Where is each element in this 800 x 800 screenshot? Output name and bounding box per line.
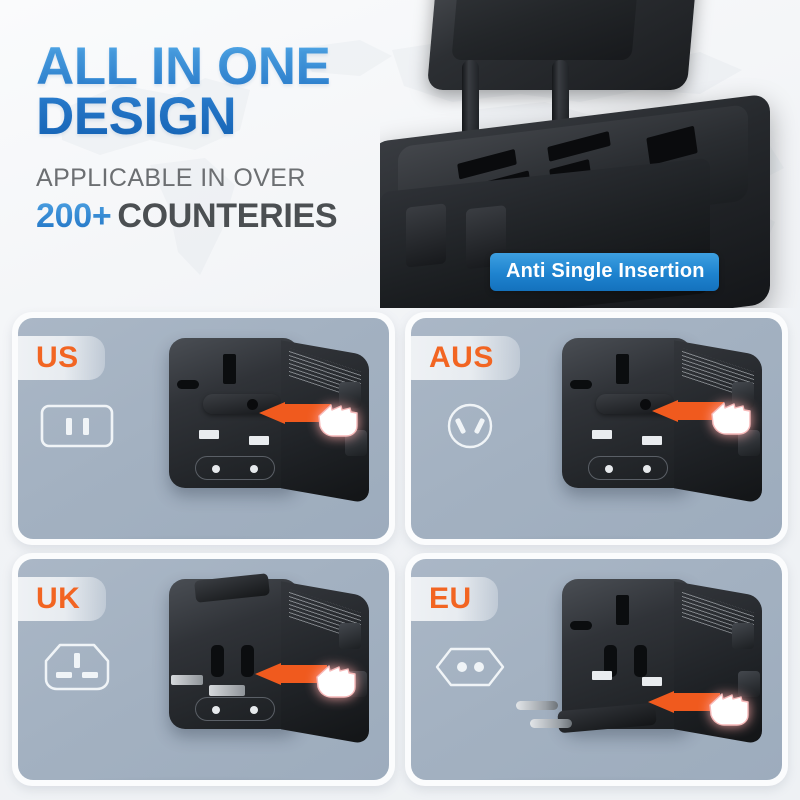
- country-chip-us: US: [18, 336, 105, 380]
- uk-socket-icon: [38, 639, 116, 695]
- eu-pin-dot: [250, 465, 258, 473]
- eu-pin-plate: [195, 697, 275, 721]
- country-code-label: EU: [429, 584, 472, 614]
- country-count-line: 200+COUNTERIES: [36, 197, 456, 236]
- socket-flat-hole: [592, 671, 612, 680]
- country-chip-eu: EU: [411, 577, 498, 621]
- eu-pin-dot: [212, 706, 220, 714]
- usb-c-port: [570, 380, 592, 389]
- page-title: ALL IN ONE DESIGN: [36, 42, 456, 142]
- adapter-photo-uk: [163, 567, 389, 780]
- country-chip-aus: AUS: [411, 336, 520, 380]
- universal-socket-hole: [211, 645, 224, 677]
- adapter-photo-aus: [556, 326, 782, 539]
- eu-pin-dot: [250, 706, 258, 714]
- eu-prong-body: [557, 703, 657, 733]
- slider-switch: [339, 623, 361, 649]
- hand-cursor-icon: [315, 392, 359, 438]
- usb-c-port: [177, 380, 199, 389]
- country-code-label: UK: [36, 584, 80, 614]
- eu-pin-dot: [605, 465, 613, 473]
- usb-a-port: [616, 354, 629, 384]
- product-infographic: GaN III Anti Single Insertion: [0, 0, 800, 800]
- eu-pin-dot: [212, 465, 220, 473]
- aus-socket-icon: [431, 398, 509, 454]
- universal-socket-hole: [634, 645, 647, 677]
- country-code-label: US: [36, 343, 79, 373]
- eu-pin-plate: [195, 456, 275, 480]
- hand-cursor-icon: [708, 390, 752, 436]
- panel-uk[interactable]: UK: [12, 553, 395, 786]
- socket-flat-hole: [642, 436, 662, 445]
- panel-eu[interactable]: EU: [405, 553, 788, 786]
- usb-c-port: [570, 621, 592, 630]
- us-socket-icon: [38, 398, 116, 454]
- hero-subline: APPLICABLE IN OVER: [36, 164, 456, 193]
- eu-round-pin: [530, 719, 572, 728]
- panel-uk-inner: UK: [18, 559, 389, 780]
- adapter-photo-eu: [556, 567, 782, 780]
- socket-flat-hole: [642, 677, 662, 686]
- socket-flat-hole: [199, 430, 219, 439]
- panel-aus-inner: AUS: [411, 318, 782, 539]
- universal-socket-hole: [241, 645, 254, 677]
- panel-aus[interactable]: AUS: [405, 312, 788, 545]
- hand-cursor-icon: [706, 681, 750, 727]
- hero-section: GaN III Anti Single Insertion: [0, 0, 800, 308]
- uk-prong-flap: [194, 573, 270, 603]
- usb-a-port: [616, 595, 629, 625]
- usb-a-port: [223, 354, 236, 384]
- eu-pin-dot: [643, 465, 651, 473]
- eu-pin-plate: [588, 456, 668, 480]
- adapter-cube: [169, 579, 299, 729]
- plug-type-grid: US: [0, 306, 800, 800]
- panel-us-inner: US: [18, 318, 389, 539]
- country-code-label: AUS: [429, 343, 494, 373]
- country-count-number: 200+: [36, 197, 111, 235]
- hand-cursor-icon: [313, 653, 357, 699]
- eu-round-pin: [516, 701, 558, 710]
- socket-flat-hole: [592, 430, 612, 439]
- country-count-word: COUNTERIES: [117, 197, 337, 235]
- eu-socket-icon: [431, 639, 509, 695]
- socket-flat-hole: [249, 436, 269, 445]
- panel-us[interactable]: US: [12, 312, 395, 545]
- anti-single-insertion-badge: Anti Single Insertion: [490, 253, 719, 291]
- socket-slot: [547, 131, 610, 162]
- country-chip-uk: UK: [18, 577, 106, 621]
- slider-switch: [732, 623, 754, 649]
- panel-eu-inner: EU: [411, 559, 782, 780]
- wall-charger-face: [451, 0, 642, 60]
- adapter-photo-us: [163, 326, 389, 539]
- hero-copy: ALL IN ONE DESIGN APPLICABLE IN OVER 200…: [36, 42, 456, 236]
- uk-pin: [171, 675, 203, 685]
- uk-pin: [209, 685, 245, 696]
